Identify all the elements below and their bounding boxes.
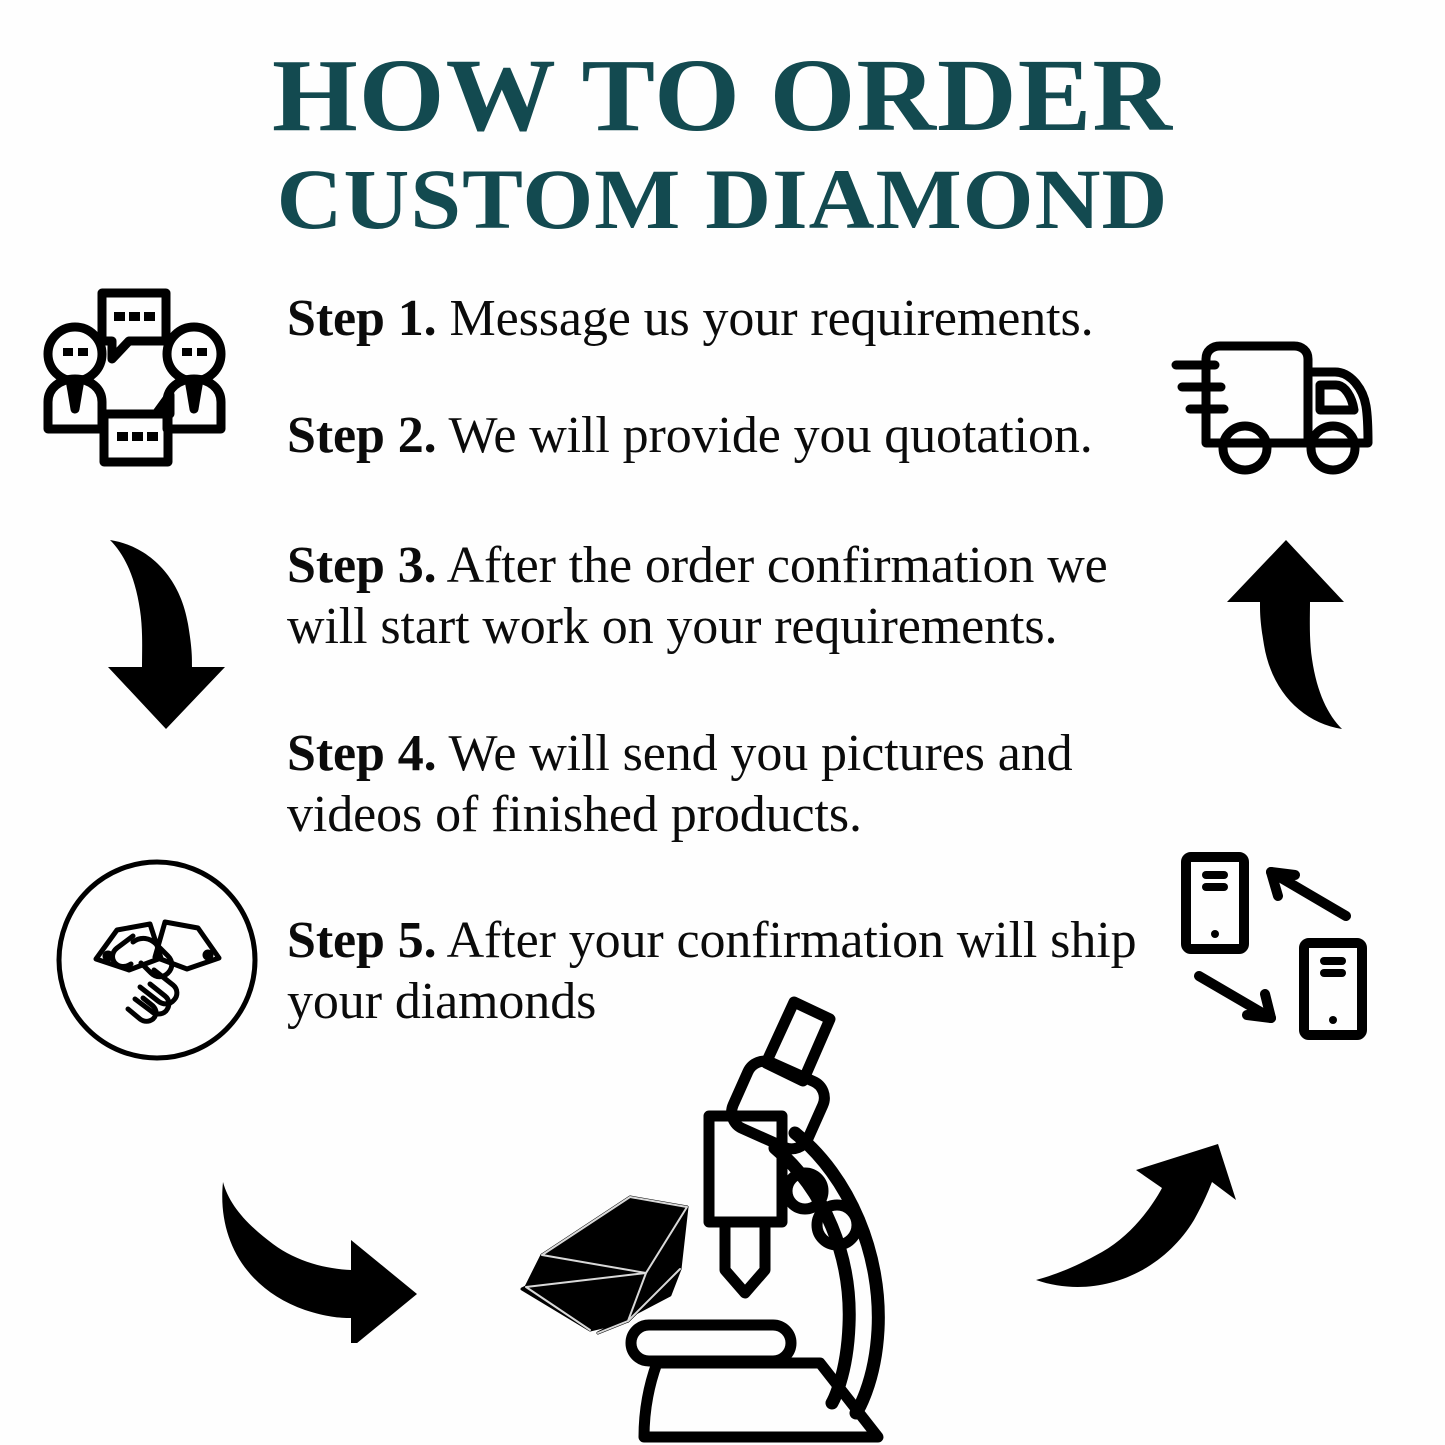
arrow-curve-right-icon — [205, 1178, 425, 1343]
step-1-text: Step 1. Message us your requirements. — [287, 288, 1187, 349]
step-4-label: Step 4. — [287, 725, 437, 782]
step-5-label: Step 5. — [287, 912, 437, 969]
consultation-icon — [34, 283, 244, 473]
microscope-diamond-icon — [520, 985, 920, 1445]
step-4-text: Step 4. We will send you pictures and vi… — [287, 723, 1187, 846]
step-3-text: Step 3. After the order confirmation we … — [287, 535, 1187, 658]
page-title: HOW TO ORDER CUSTOM DIAMOND — [0, 44, 1445, 242]
arrow-down-icon — [96, 532, 241, 737]
title-line-1: HOW TO ORDER — [0, 44, 1445, 148]
phone-transfer-icon — [1168, 845, 1388, 1050]
infographic-page: HOW TO ORDER CUSTOM DIAMOND Step 1. Mess… — [0, 0, 1445, 1445]
step-2-label: Step 2. — [287, 407, 437, 464]
step-1-body: Message us your requirements. — [437, 290, 1094, 347]
arrow-up-icon — [1208, 533, 1358, 738]
step-2-text: Step 2. We will provide you quotation. — [287, 405, 1187, 466]
arrow-curve-up-icon — [1022, 1140, 1237, 1315]
handshake-icon — [55, 858, 260, 1063]
step-2-body: We will provide you quotation. — [437, 407, 1093, 464]
step-1-label: Step 1. — [287, 290, 437, 347]
step-3-label: Step 3. — [287, 537, 437, 594]
delivery-truck-icon — [1170, 330, 1390, 480]
title-line-2: CUSTOM DIAMOND — [0, 156, 1445, 242]
